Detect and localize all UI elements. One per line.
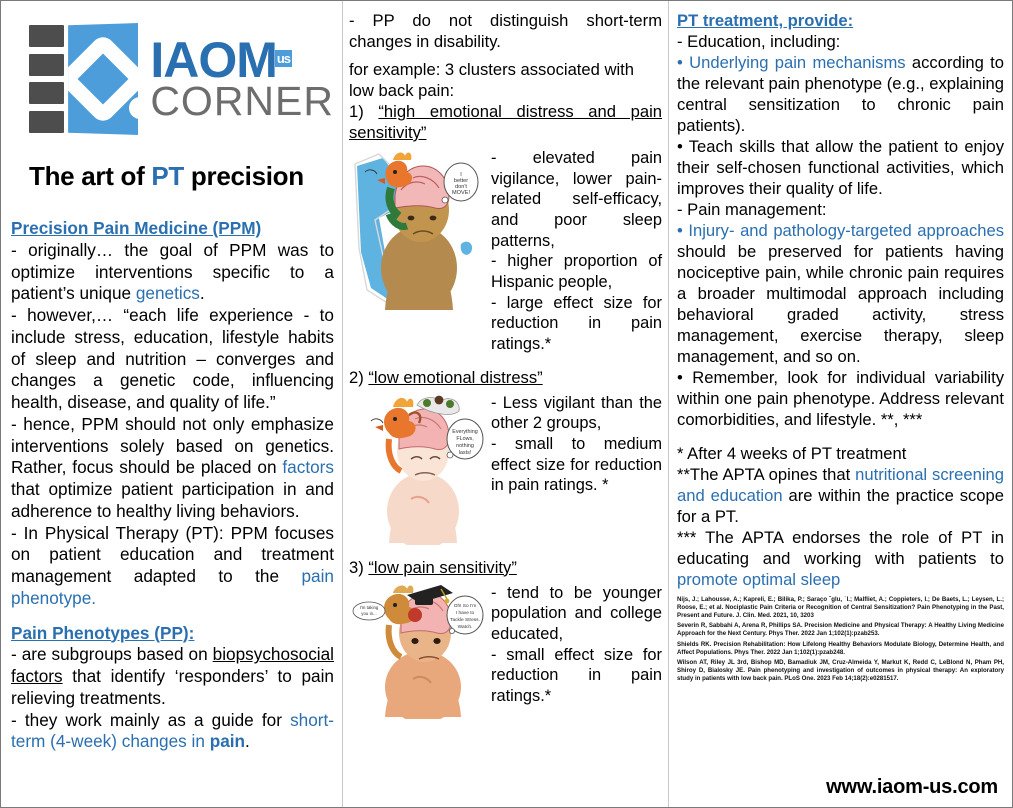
logo-bars-icon [29,25,64,133]
cluster-3-figure-row: I'm taking you in... Oh! So I'm I have t… [349,583,662,719]
footnotes-section: * After 4 weeks of PT treatment **The AP… [677,444,1004,591]
page-title: The art of PT precision [29,161,334,192]
education-bullet-1: • Underlying pain mechanisms according t… [677,53,1004,137]
reference-item: Wilson AT, Riley JL 3rd, Bishop MD, Bama… [677,659,1004,683]
ppm-heading: Precision Pain Medicine (PPM) [11,218,334,240]
cluster-1-bullet-2: - higher proportion of Hispanic people, [491,251,662,292]
reference-item: Severin R, Sabbahi A, Arena R, Phillips … [677,622,1004,638]
cluster-3-bullet-1: - tend to be younger population and coll… [491,583,662,645]
cluster-1-illustration: I better don't MOVE! [349,148,487,313]
footnote-3: *** The APTA endorses the role of PT in … [677,528,1004,591]
pp-p2-text-b: . [245,731,250,751]
footnote-3-text-a: *** The APTA endorses the role of PT in … [677,528,1004,568]
logo-line1: IAOM [150,32,277,88]
pain-bullet-1-link: • Injury- and pathology-targeted approac… [677,221,1004,240]
cluster-1-bullets: - elevated pain vigilance, lower pain-re… [487,148,662,355]
cluster-3-bullets: - tend to be younger population and coll… [487,583,662,707]
footnote-3-link: promote optimal sleep [677,570,840,589]
cluster-1-title: “high emotional distress and pain sensit… [349,102,662,142]
pain-bullet-1: • Injury- and pathology-targeted approac… [677,221,1004,368]
pain-bullet-2: • Remember, look for individual variabil… [677,368,1004,431]
cluster-1-figure-row: I better don't MOVE! - elevated pain vig… [349,148,662,355]
middle-paragraph-2: for example: 3 clusters associated with … [349,60,662,102]
headline-part2: precision [184,161,304,191]
reference-item: Nijs, J.; Lahousse, A.; Kapreli, E.; Bil… [677,596,1004,620]
ppm-paragraph-1: - originally… the goal of PPM was to opt… [11,240,334,305]
cluster-3-title: “low pain sensitivity” [368,558,516,577]
svg-text:I'm taking: I'm taking [360,605,379,610]
svg-text:Everything: Everything [452,429,477,435]
ppm-p4-text-a: - In Physical Therapy (PT): PPM focuses … [11,523,334,587]
website-url[interactable]: www.iaom-us.com [826,776,998,799]
cluster-2-illustration: Everything FLows, nothing lasts! [349,393,487,545]
middle-column: - PP do not distinguish short-term chang… [342,1,668,807]
svg-text:Tackle Stress.: Tackle Stress. [450,617,480,623]
headline-accent: PT [151,161,184,191]
figure-calm-patient-icon: Everything FLows, nothing lasts! [349,393,487,545]
ppm-paragraph-3: - hence, PPM should not only emphasize i… [11,414,334,523]
ppm-p3-text-b: that optimize patient participation in a… [11,479,334,521]
education-label: - Education, including: [677,32,1004,53]
iaom-logo: IAOMus CORNER [29,23,334,135]
pain-management-label: - Pain management: [677,200,1004,221]
pain-phenotypes-section: Pain Phenotypes (PP): - are subgroups ba… [11,623,334,754]
ppm-p3-link: factors [282,457,334,477]
footnote-1: * After 4 weeks of PT treatment [677,444,1004,465]
reference-item: Shields RK. Precision Rehabilitation: Ho… [677,641,1004,657]
references-list: Nijs, J.; Lahousse, A.; Kapreli, E.; Bil… [677,596,1004,684]
pp-heading: Pain Phenotypes (PP): [11,623,334,645]
ppm-p1-link: genetics [136,283,200,303]
middle-paragraph-1: - PP do not distinguish short-term chang… [349,11,662,53]
cluster-2-number: 2) [349,368,368,387]
pt-treatment-heading: PT treatment, provide: [677,11,1004,32]
infographic-page: IAOMus CORNER The art of PT precision Pr… [0,0,1013,808]
cluster-2-figure-row: Everything FLows, nothing lasts! - Less … [349,393,662,545]
cluster-3-illustration: I'm taking you in... Oh! So I'm I have t… [349,583,487,719]
logo-diamond-icon [68,23,138,135]
precision-pain-medicine-section: Precision Pain Medicine (PPM) - original… [11,218,334,610]
pp-paragraph-2: - they work mainly as a guide for short-… [11,710,334,754]
figure-hispanic-patient-icon: I better don't MOVE! [349,148,487,313]
cluster-1-bullet-1: - elevated pain vigilance, lower pain-re… [491,148,662,251]
right-column: PT treatment, provide: - Education, incl… [668,1,1012,807]
pp-p2-bold: pain [210,731,245,751]
pp-paragraph-1: - are subgroups based on biopsychosocial… [11,644,334,709]
svg-text:FLows,: FLows, [456,436,474,442]
ppm-p1-text-b: . [200,283,205,303]
pp-disability-note: - PP do not distinguish short-term chang… [349,11,662,144]
svg-text:I have to: I have to [456,610,475,616]
svg-text:nothing: nothing [456,443,474,449]
cluster-2-bullets: - Less vigilant than the other 2 groups,… [487,393,662,496]
cluster-2-bullet-1: - Less vigilant than the other 2 groups, [491,393,662,434]
cluster-3-heading-row: 3) “low pain sensitivity” [349,558,662,579]
ppm-paragraph-2: - however,… “each life experience - to i… [11,305,334,414]
logo-wordmark: IAOMus CORNER [150,37,334,121]
footnote-2-text-a: **The APTA opines that [677,465,855,484]
education-bullet-2: • Teach skills that allow the patient to… [677,137,1004,200]
svg-text:lasts!: lasts! [459,450,472,456]
left-column: IAOMus CORNER The art of PT precision Pr… [1,1,342,807]
cluster-1-bullet-3: - large effect size for reduction in pai… [491,293,662,355]
ppm-paragraph-4: - In Physical Therapy (PT): PPM focuses … [11,523,334,610]
svg-text:you in...: you in... [361,611,376,616]
logo-line2: CORNER [150,83,334,121]
pain-bullet-1-rest: should be preserved for patients having … [677,242,1004,366]
svg-text:MOVE!: MOVE! [452,190,470,196]
logo-superscript: us [275,50,292,67]
svg-text:Oh! So I'm: Oh! So I'm [454,603,477,609]
cluster-3-title-row: 3) “low pain sensitivity” [349,558,662,579]
pt-treatment-section: PT treatment, provide: - Education, incl… [677,11,1004,431]
pp-p2-text-a: - they work mainly as a guide for [11,710,290,730]
pp-p1-text-a: - are subgroups based on [11,644,213,664]
cluster-2-heading-row: 2) “low emotional distress” [349,368,662,389]
cluster-3-number: 3) [349,558,368,577]
cluster-1-title-row: 1) “high emotional distress and pain sen… [349,102,662,144]
cluster-1-number: 1) [349,102,378,121]
figure-young-patient-icon: I'm taking you in... Oh! So I'm I have t… [349,583,487,719]
education-bullet-1-link: • Underlying pain mechanisms [677,53,906,72]
cluster-2-title-row: 2) “low emotional distress” [349,368,662,389]
headline-part1: The art of [29,161,151,191]
cluster-3-bullet-2: - small effect size for reduction in pai… [491,645,662,707]
svg-text:Watch.: Watch. [458,624,473,630]
cluster-2-title: “low emotional distress” [368,368,542,387]
cluster-2-bullet-2: - small to medium effect size for reduct… [491,434,662,496]
footnote-2: **The APTA opines that nutritional scree… [677,465,1004,528]
three-column-layout: IAOMus CORNER The art of PT precision Pr… [1,1,1012,807]
